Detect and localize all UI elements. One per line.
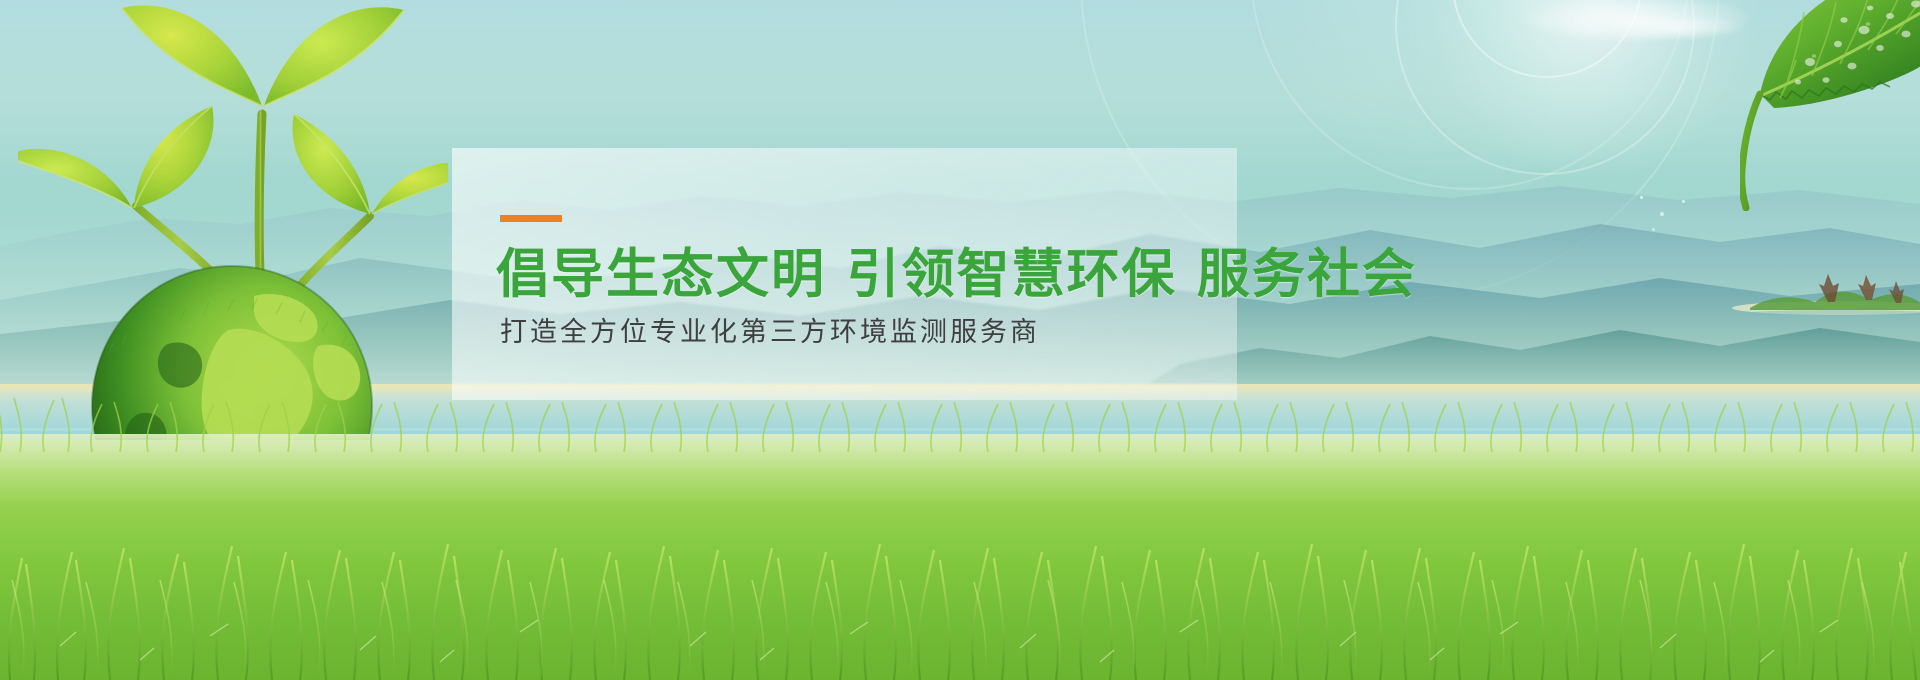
particle-dot (1682, 200, 1685, 203)
particle-dot (1640, 196, 1643, 199)
page-title: 倡导生态文明 引领智慧环保 服务社会 (496, 245, 1417, 304)
eco-banner: 倡导生态文明 引领智慧环保 服务社会 打造全方位专业化第三方环境监测服务商 (0, 0, 1920, 680)
lake-island (1720, 268, 1920, 316)
page-subtitle: 打造全方位专业化第三方环境监测服务商 (500, 310, 1040, 349)
grass-field (0, 440, 1920, 680)
grass-blade-texture (0, 440, 1920, 680)
particle-dot (1660, 212, 1664, 216)
grass-fringe-shoreline (0, 392, 1920, 452)
particle-dot (1652, 228, 1655, 231)
cloud-wisp-secondary (1600, 14, 1750, 40)
accent-bar (500, 215, 562, 222)
hanging-leaf-icon (1740, 0, 1920, 211)
